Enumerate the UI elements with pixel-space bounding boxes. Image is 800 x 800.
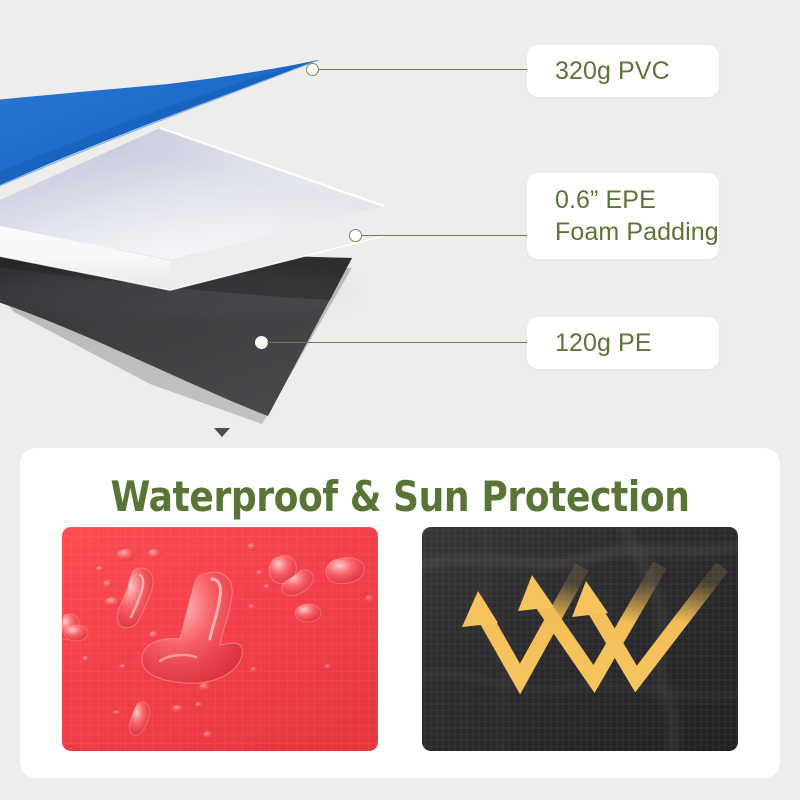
sun-protection-demo-photo bbox=[422, 527, 738, 751]
layer-diagram bbox=[0, 0, 520, 440]
feature-heading: Waterproof & Sun Protection bbox=[73, 472, 727, 521]
leader-line-pvc bbox=[318, 69, 530, 70]
callout-foam-label: 0.6” EPE Foam Padding bbox=[555, 184, 719, 248]
waterproof-demo-photo bbox=[62, 527, 378, 751]
callout-foam: 0.6” EPE Foam Padding bbox=[527, 173, 719, 259]
leader-line-foam bbox=[361, 235, 530, 236]
leader-line-pe bbox=[267, 342, 530, 343]
callout-pvc: 320g PVC bbox=[527, 45, 719, 97]
feature-card: Waterproof & Sun Protection bbox=[20, 448, 780, 778]
callout-pvc-label: 320g PVC bbox=[555, 55, 670, 87]
callout-pe-label: 120g PE bbox=[555, 327, 652, 359]
product-infographic: 320g PVC 0.6” EPE Foam Padding 120g PE W… bbox=[0, 0, 800, 800]
callout-pe: 120g PE bbox=[527, 317, 719, 369]
section-divider-arrow-icon bbox=[214, 428, 230, 437]
